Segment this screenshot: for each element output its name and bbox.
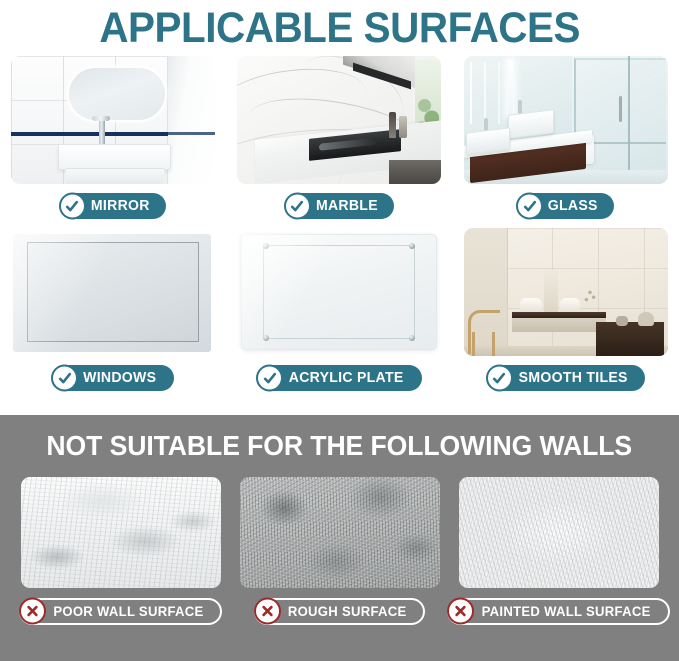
badge-label: WINDOWS	[84, 370, 157, 386]
decor-object-shape	[638, 312, 654, 326]
oval-mirror-shape	[69, 68, 165, 120]
applicable-cell-windows: WINDOWS	[0, 228, 226, 400]
x-icon	[447, 598, 474, 625]
check-icon	[51, 365, 78, 392]
badge-row-windows: WINDOWS	[0, 356, 226, 400]
decor-object-shape	[616, 316, 628, 326]
bottle-shape	[399, 116, 407, 138]
wall-side-panel	[167, 56, 215, 184]
x-icon	[19, 598, 46, 625]
badge-windows[interactable]: WINDOWS	[52, 365, 173, 391]
shelf-base-shape	[512, 318, 606, 332]
not-suitable-cell-rough: ROUGH SURFACE	[230, 477, 449, 634]
badge-acrylic-plate[interactable]: ACRYLIC PLATE	[257, 365, 421, 391]
light-strip-shape	[508, 60, 513, 116]
not-suitable-cell-painted: PAINTED WALL SURFACE	[449, 477, 668, 634]
bathroom-mirror-photo	[11, 56, 215, 184]
not-suitable-row-1: POOR WALL SURFACE ROUGH S	[0, 477, 679, 634]
acrylic-gloss-highlight	[241, 234, 437, 350]
check-icon	[486, 365, 513, 392]
badge-label: GLASS	[548, 198, 598, 214]
console-table-shape	[596, 322, 664, 356]
badge-glass[interactable]: GLASS	[517, 193, 614, 219]
smooth-tiled-room-photo	[464, 228, 668, 356]
badge-row-marble: MARBLE	[226, 184, 452, 228]
vanity-cabinet-shape	[66, 168, 164, 184]
check-icon	[59, 193, 86, 220]
tall-decor-object	[544, 270, 558, 314]
badge-row-rough-surface: ROUGH SURFACE	[230, 588, 449, 634]
badge-row-glass: GLASS	[453, 184, 679, 228]
navy-wall-stripe	[11, 132, 168, 136]
not-suitable-title: NOT SUITABLE FOR THE FOLLOWING WALLS	[47, 430, 633, 462]
shower-handle-shape	[619, 96, 622, 122]
base-cabinet-shape	[389, 160, 441, 184]
applicable-cell-marble: MARBLE	[226, 56, 452, 228]
applicable-surfaces-header: APPLICABLE SURFACES	[0, 0, 679, 56]
not-suitable-section: NOT SUITABLE FOR THE FOLLOWING WALLS POO	[0, 415, 679, 661]
badge-poor-wall-surface[interactable]: POOR WALL SURFACE	[19, 598, 222, 625]
badge-label: MIRROR	[91, 198, 150, 214]
faucet-shape	[518, 100, 522, 114]
not-suitable-grid: POOR WALL SURFACE ROUGH S	[0, 477, 679, 634]
sink-basin-shape	[58, 144, 171, 170]
badge-painted-wall-surface[interactable]: PAINTED WALL SURFACE	[447, 598, 669, 625]
badge-label: ROUGH SURFACE	[288, 604, 407, 619]
badge-label: MARBLE	[315, 198, 377, 214]
badge-rough-surface[interactable]: ROUGH SURFACE	[254, 598, 424, 625]
applicable-cell-glass: GLASS	[453, 56, 679, 228]
painted-stipple-texture-photo	[459, 477, 659, 588]
applicable-surfaces-grid: MIRROR	[0, 56, 679, 400]
faucet-shape	[99, 118, 105, 146]
glass-panel-highlight	[13, 234, 211, 352]
applicable-row-1: MIRROR	[0, 56, 679, 228]
badge-smooth-tiles[interactable]: SMOOTH TILES	[487, 365, 645, 391]
shower-frame-vertical	[628, 56, 630, 178]
applicable-cell-acrylic: ACRYLIC PLATE	[226, 228, 452, 400]
check-icon	[256, 365, 283, 392]
beveled-glass-panel-photo	[11, 228, 215, 356]
rough-concrete-texture-photo	[240, 477, 440, 588]
badge-label: POOR WALL SURFACE	[53, 604, 203, 619]
badge-row-acrylic: ACRYLIC PLATE	[226, 356, 452, 400]
poor-wall-texture-photo	[21, 477, 221, 588]
not-suitable-cell-poor-wall: POOR WALL SURFACE	[11, 477, 230, 634]
applicable-cell-smooth-tiles: SMOOTH TILES	[453, 228, 679, 400]
page-title: APPLICABLE SURFACES	[99, 7, 580, 50]
applicable-cell-mirror: MIRROR	[0, 56, 226, 228]
badge-row-smooth-tiles: SMOOTH TILES	[453, 356, 679, 400]
check-icon	[516, 193, 543, 220]
badge-label: SMOOTH TILES	[518, 370, 627, 386]
badge-row-painted-wall: PAINTED WALL SURFACE	[449, 588, 668, 634]
badge-marble[interactable]: MARBLE	[285, 193, 395, 219]
badge-mirror[interactable]: MIRROR	[60, 193, 167, 219]
marble-kitchen-photo	[237, 56, 441, 184]
badge-row-poor-wall: POOR WALL SURFACE	[11, 588, 230, 634]
acrylic-sheet-photo	[237, 228, 441, 356]
check-icon	[284, 193, 311, 220]
not-suitable-header: NOT SUITABLE FOR THE FOLLOWING WALLS	[0, 415, 679, 477]
chair-leg-shape	[472, 332, 475, 356]
bottle-shape	[389, 112, 396, 138]
infographic-page: APPLICABLE SURFACES	[0, 0, 679, 661]
x-icon	[254, 598, 281, 625]
glass-shower-bathroom-photo	[464, 56, 668, 184]
wall-reflection-stripes	[470, 62, 472, 124]
badge-label: PAINTED WALL SURFACE	[482, 604, 651, 619]
dried-branch-shape	[584, 290, 596, 314]
navy-wall-stripe-secondary	[168, 132, 215, 135]
badge-row-mirror: MIRROR	[0, 184, 226, 228]
badge-label: ACRYLIC PLATE	[289, 370, 404, 386]
applicable-row-2: WINDOWS	[0, 228, 679, 400]
